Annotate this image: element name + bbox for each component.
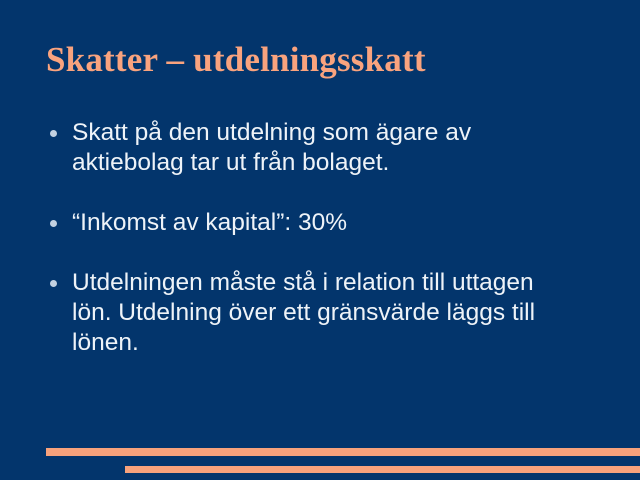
bullet-text: “Inkomst av kapital”: 30% [72,208,566,238]
bullet-dot-icon [50,130,57,137]
bullet-text: Skatt på den utdelning som ägare av akti… [72,118,566,178]
bullet-item: “Inkomst av kapital”: 30% [46,208,566,238]
bullet-text: Utdelningen måste stå i relation till ut… [72,268,566,358]
footer-accent-line-top [46,448,640,456]
bullet-list: Skatt på den utdelning som ägare av akti… [46,118,566,358]
bullet-item: Utdelningen måste stå i relation till ut… [46,268,566,358]
slide-title: Skatter – utdelningsskatt [46,40,606,80]
bullet-dot-icon [50,280,57,287]
presentation-slide: Skatter – utdelningsskatt Skatt på den u… [0,0,640,480]
bullet-item: Skatt på den utdelning som ägare av akti… [46,118,566,178]
footer-accent-line-bottom [125,466,640,473]
bullet-dot-icon [50,220,57,227]
